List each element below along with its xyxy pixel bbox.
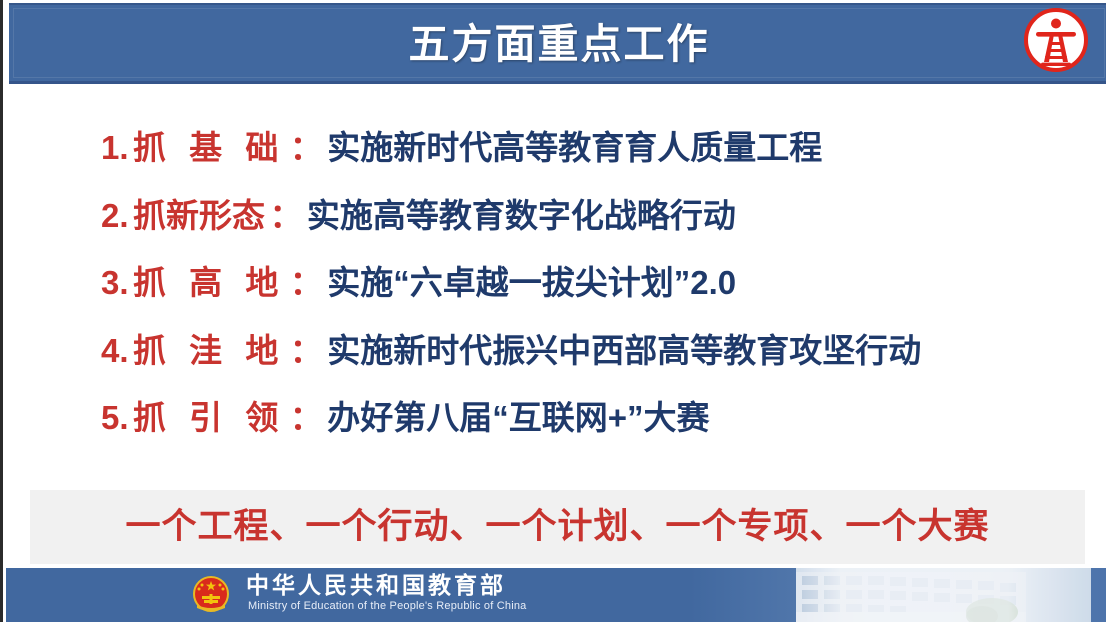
item-number: 4. bbox=[101, 325, 129, 377]
item-detail: 实施高等教育数字化战略行动 bbox=[307, 190, 736, 242]
ministry-name-en: Ministry of Education of the People's Re… bbox=[248, 600, 526, 613]
government-building-photo bbox=[796, 568, 1091, 622]
item-colon: ： bbox=[290, 392, 323, 444]
list-item: 5. 抓 引 领 ： 办好第八届“互联网+”大赛 bbox=[101, 392, 710, 444]
item-detail: 实施新时代振兴中西部高等教育攻坚行动 bbox=[327, 325, 921, 377]
red-circle-tower-emblem-icon bbox=[1022, 6, 1090, 74]
item-label: 抓 引 领 bbox=[133, 392, 285, 444]
item-number: 5. bbox=[101, 392, 129, 444]
list-item: 2. 抓新形态 ： 实施高等教育数字化战略行动 bbox=[101, 190, 736, 242]
page-title: 五方面重点工作 bbox=[9, 5, 1106, 86]
item-number: 1. bbox=[101, 122, 129, 174]
item-label: 抓 洼 地 bbox=[133, 325, 285, 377]
list-item: 4. 抓 洼 地 ： 实施新时代振兴中西部高等教育攻坚行动 bbox=[101, 325, 921, 377]
slide-footer bbox=[6, 568, 1106, 622]
item-detail: 实施新时代高等教育育人质量工程 bbox=[327, 122, 822, 174]
national-emblem-icon bbox=[189, 572, 233, 618]
item-label: 抓 基 础 bbox=[133, 122, 285, 174]
item-colon: ： bbox=[269, 190, 302, 242]
presentation-slide: 五方面重点工作 1. 抓 基 础 ： 实施新时代高等教育育人质量工程 2. 抓新… bbox=[0, 0, 1106, 622]
item-colon: ： bbox=[290, 257, 323, 309]
list-item: 3. 抓 高 地 ： 实施“六卓越一拔尖计划”2.0 bbox=[101, 257, 736, 309]
summary-text: 一个工程、一个行动、一个计划、一个专项、一个大赛 bbox=[30, 490, 1085, 564]
summary-band: 一个工程、一个行动、一个计划、一个专项、一个大赛 bbox=[30, 490, 1085, 564]
title-banner: 五方面重点工作 bbox=[9, 3, 1106, 84]
item-number: 3. bbox=[101, 257, 129, 309]
item-label: 抓新形态 bbox=[133, 190, 265, 242]
ministry-name-cn: 中华人民共和国教育部 bbox=[246, 572, 506, 598]
item-number: 2. bbox=[101, 190, 129, 242]
item-detail: 办好第八届“互联网+”大赛 bbox=[327, 392, 709, 444]
key-tasks-list: 1. 抓 基 础 ： 实施新时代高等教育育人质量工程 2. 抓新形态 ： 实施高… bbox=[3, 86, 1106, 486]
item-colon: ： bbox=[290, 122, 323, 174]
list-item: 1. 抓 基 础 ： 实施新时代高等教育育人质量工程 bbox=[101, 122, 822, 174]
item-colon: ： bbox=[290, 325, 323, 377]
item-detail: 实施“六卓越一拔尖计划”2.0 bbox=[327, 257, 736, 309]
item-label: 抓 高 地 bbox=[133, 257, 285, 309]
